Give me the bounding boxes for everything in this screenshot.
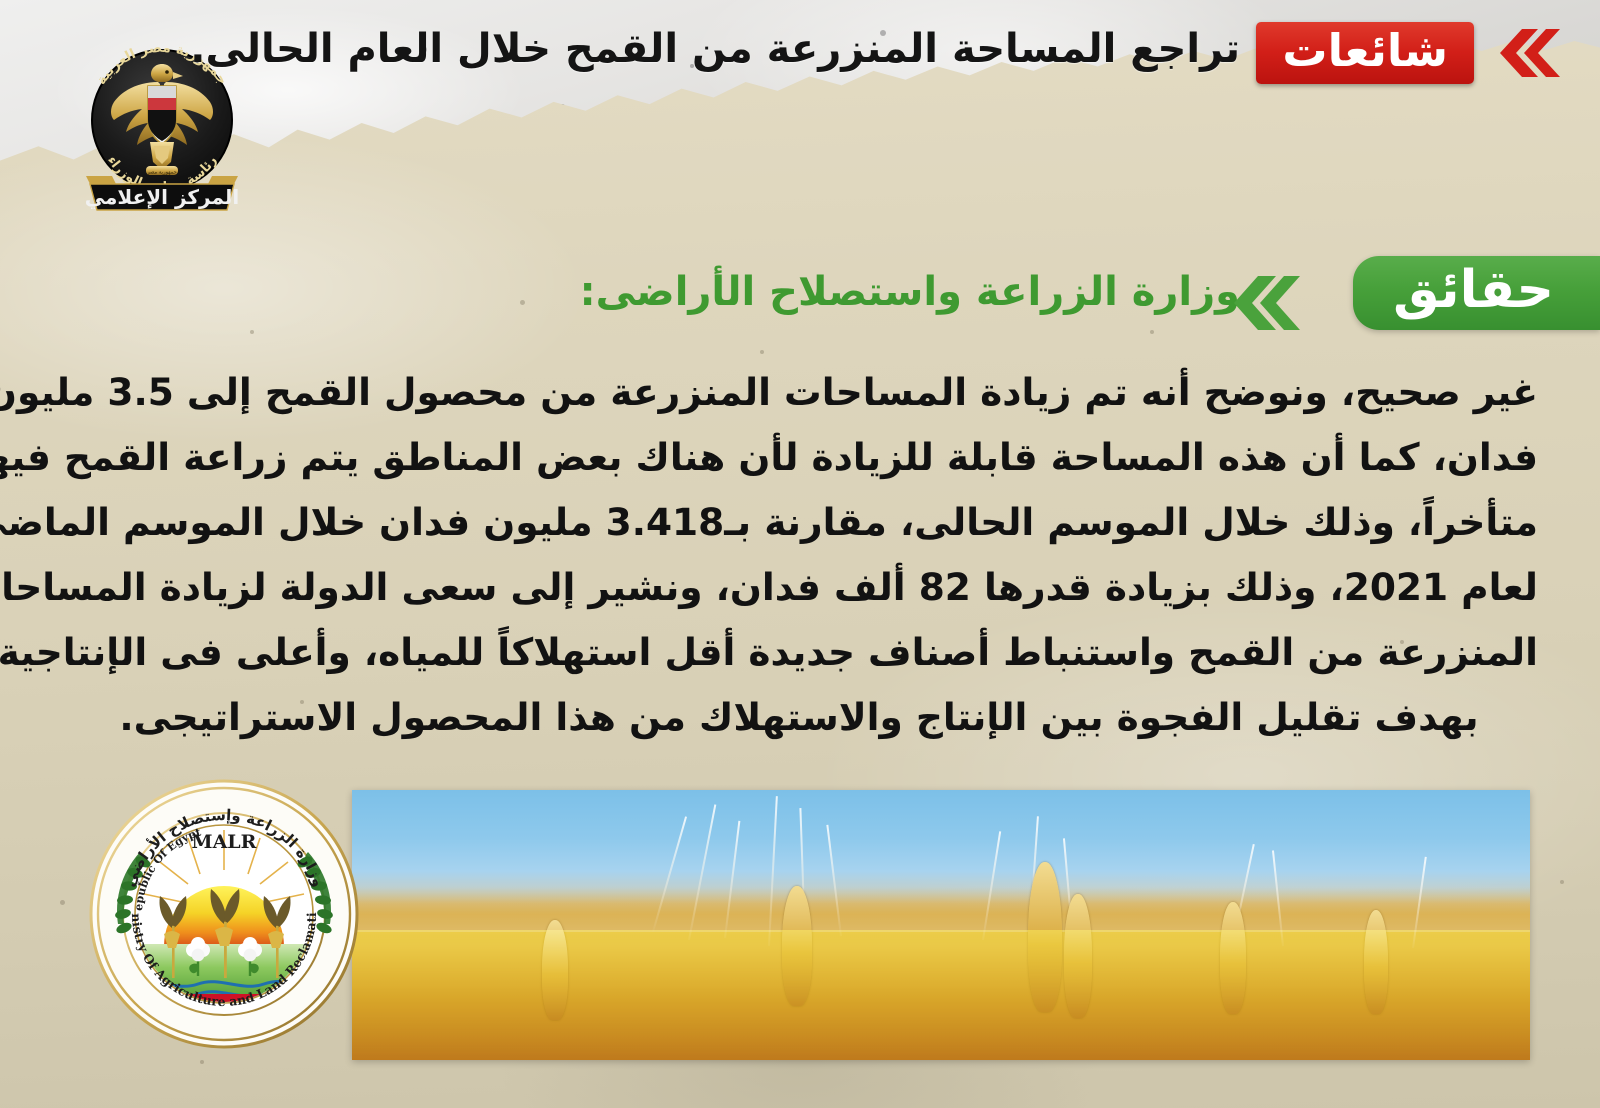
facts-source-label: وزارة الزراعة واستصلاح الأراضى:: [320, 268, 1240, 316]
body-line: فدان، كما أن هذه المساحة قابلة للزيادة ل…: [60, 425, 1538, 490]
svg-text:جمهورية مصر: جمهورية مصر: [146, 169, 177, 175]
svg-text:MALR: MALR: [192, 831, 257, 853]
body-line: المنزرعة من القمح واستنباط أصناف جديدة أ…: [60, 620, 1538, 685]
facts-body: غير صحيح، ونوضح أنه تم زيادة المساحات ال…: [60, 360, 1538, 750]
rumor-badge-label: شائعات: [1282, 28, 1448, 73]
malr-ministry-seal: وزارة الزراعة وإستصلاح الأراضي Arab Repu…: [88, 778, 360, 1050]
double-chevron-left-icon: [1222, 272, 1300, 334]
svg-text:المركز الإعلامي: المركز الإعلامي: [85, 185, 239, 210]
wheat-field-photo: [352, 790, 1530, 1060]
infographic-canvas: جمهورية مصر جمهورية مصر العربية رئاسة مج…: [0, 0, 1600, 1108]
body-line: بهدف تقليل الفجوة بين الإنتاج والاستهلاك…: [60, 685, 1538, 750]
double-chevron-left-icon: [1488, 25, 1560, 81]
body-line: غير صحيح، ونوضح أنه تم زيادة المساحات ال…: [60, 360, 1538, 425]
rumor-row: شائعات: [1256, 22, 1576, 84]
rumor-headline: تراجع المساحة المنزرعة من القمح خلال الع…: [150, 24, 1240, 74]
facts-badge-label: حقائق: [1393, 264, 1554, 316]
body-line: لعام 2021، وذلك بزيادة قدرها 82 ألف فدان…: [60, 555, 1538, 620]
rumor-badge: شائعات: [1256, 22, 1474, 84]
body-line: متأخراً، وذلك خلال الموسم الحالى، مقارنة…: [60, 490, 1538, 555]
facts-badge: حقائق: [1353, 256, 1600, 330]
